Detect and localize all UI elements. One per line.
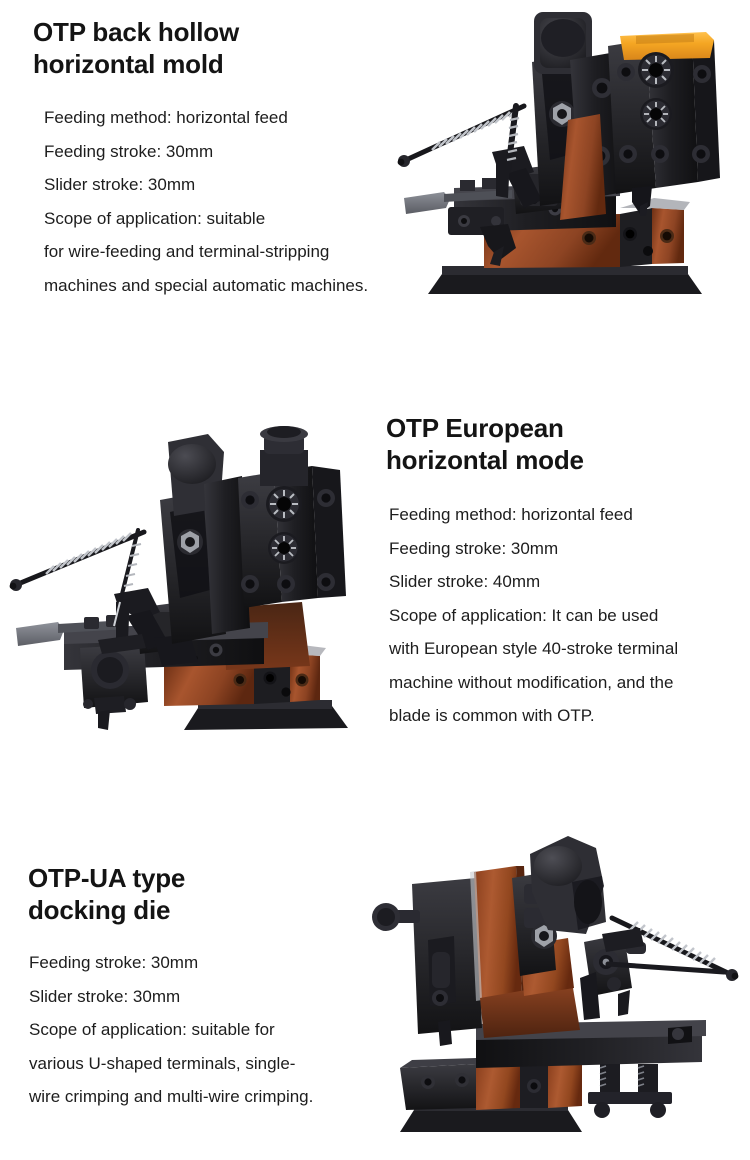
product-spec-page: OTP back hollowhorizontal mold Feeding m… <box>0 0 750 1160</box>
spec-line: Slider stroke: 30mm <box>29 980 368 1014</box>
spec-line: machine without modification, and the <box>389 666 736 700</box>
spec-line: with European style 40-stroke terminal <box>389 632 736 666</box>
spec-list: Feeding method: horizontal feed Feeding … <box>389 498 736 733</box>
product-section-otp-ua-docking-die: OTP-UA typedocking die Feeding stroke: 3… <box>0 0 750 340</box>
spec-line: Feeding stroke: 30mm <box>29 946 368 980</box>
spec-line: Scope of application: It can be used <box>389 599 736 633</box>
product-text-block: OTP-UA typedocking die Feeding stroke: 3… <box>28 862 368 1114</box>
spec-line: Feeding method: horizontal feed <box>389 498 736 532</box>
spec-line: Feeding stroke: 30mm <box>389 532 736 566</box>
spec-line: blade is common with OTP. <box>389 699 736 733</box>
spec-line: various U-shaped terminals, single- <box>29 1047 368 1081</box>
spec-list: Feeding stroke: 30mm Slider stroke: 30mm… <box>29 946 368 1114</box>
otp-european-horizontal-mode-photo <box>2 412 368 742</box>
spec-line: wire crimping and multi-wire crimping. <box>29 1080 368 1114</box>
otp-ua-type-docking-die-photo <box>372 822 750 1152</box>
product-text-block: OTP Europeanhorizontal mode Feeding meth… <box>386 412 736 733</box>
spec-line: Scope of application: suitable for <box>29 1013 368 1047</box>
page-title: OTP Europeanhorizontal mode <box>386 412 736 476</box>
page-title: OTP-UA typedocking die <box>28 862 368 926</box>
spec-line: Slider stroke: 40mm <box>389 565 736 599</box>
